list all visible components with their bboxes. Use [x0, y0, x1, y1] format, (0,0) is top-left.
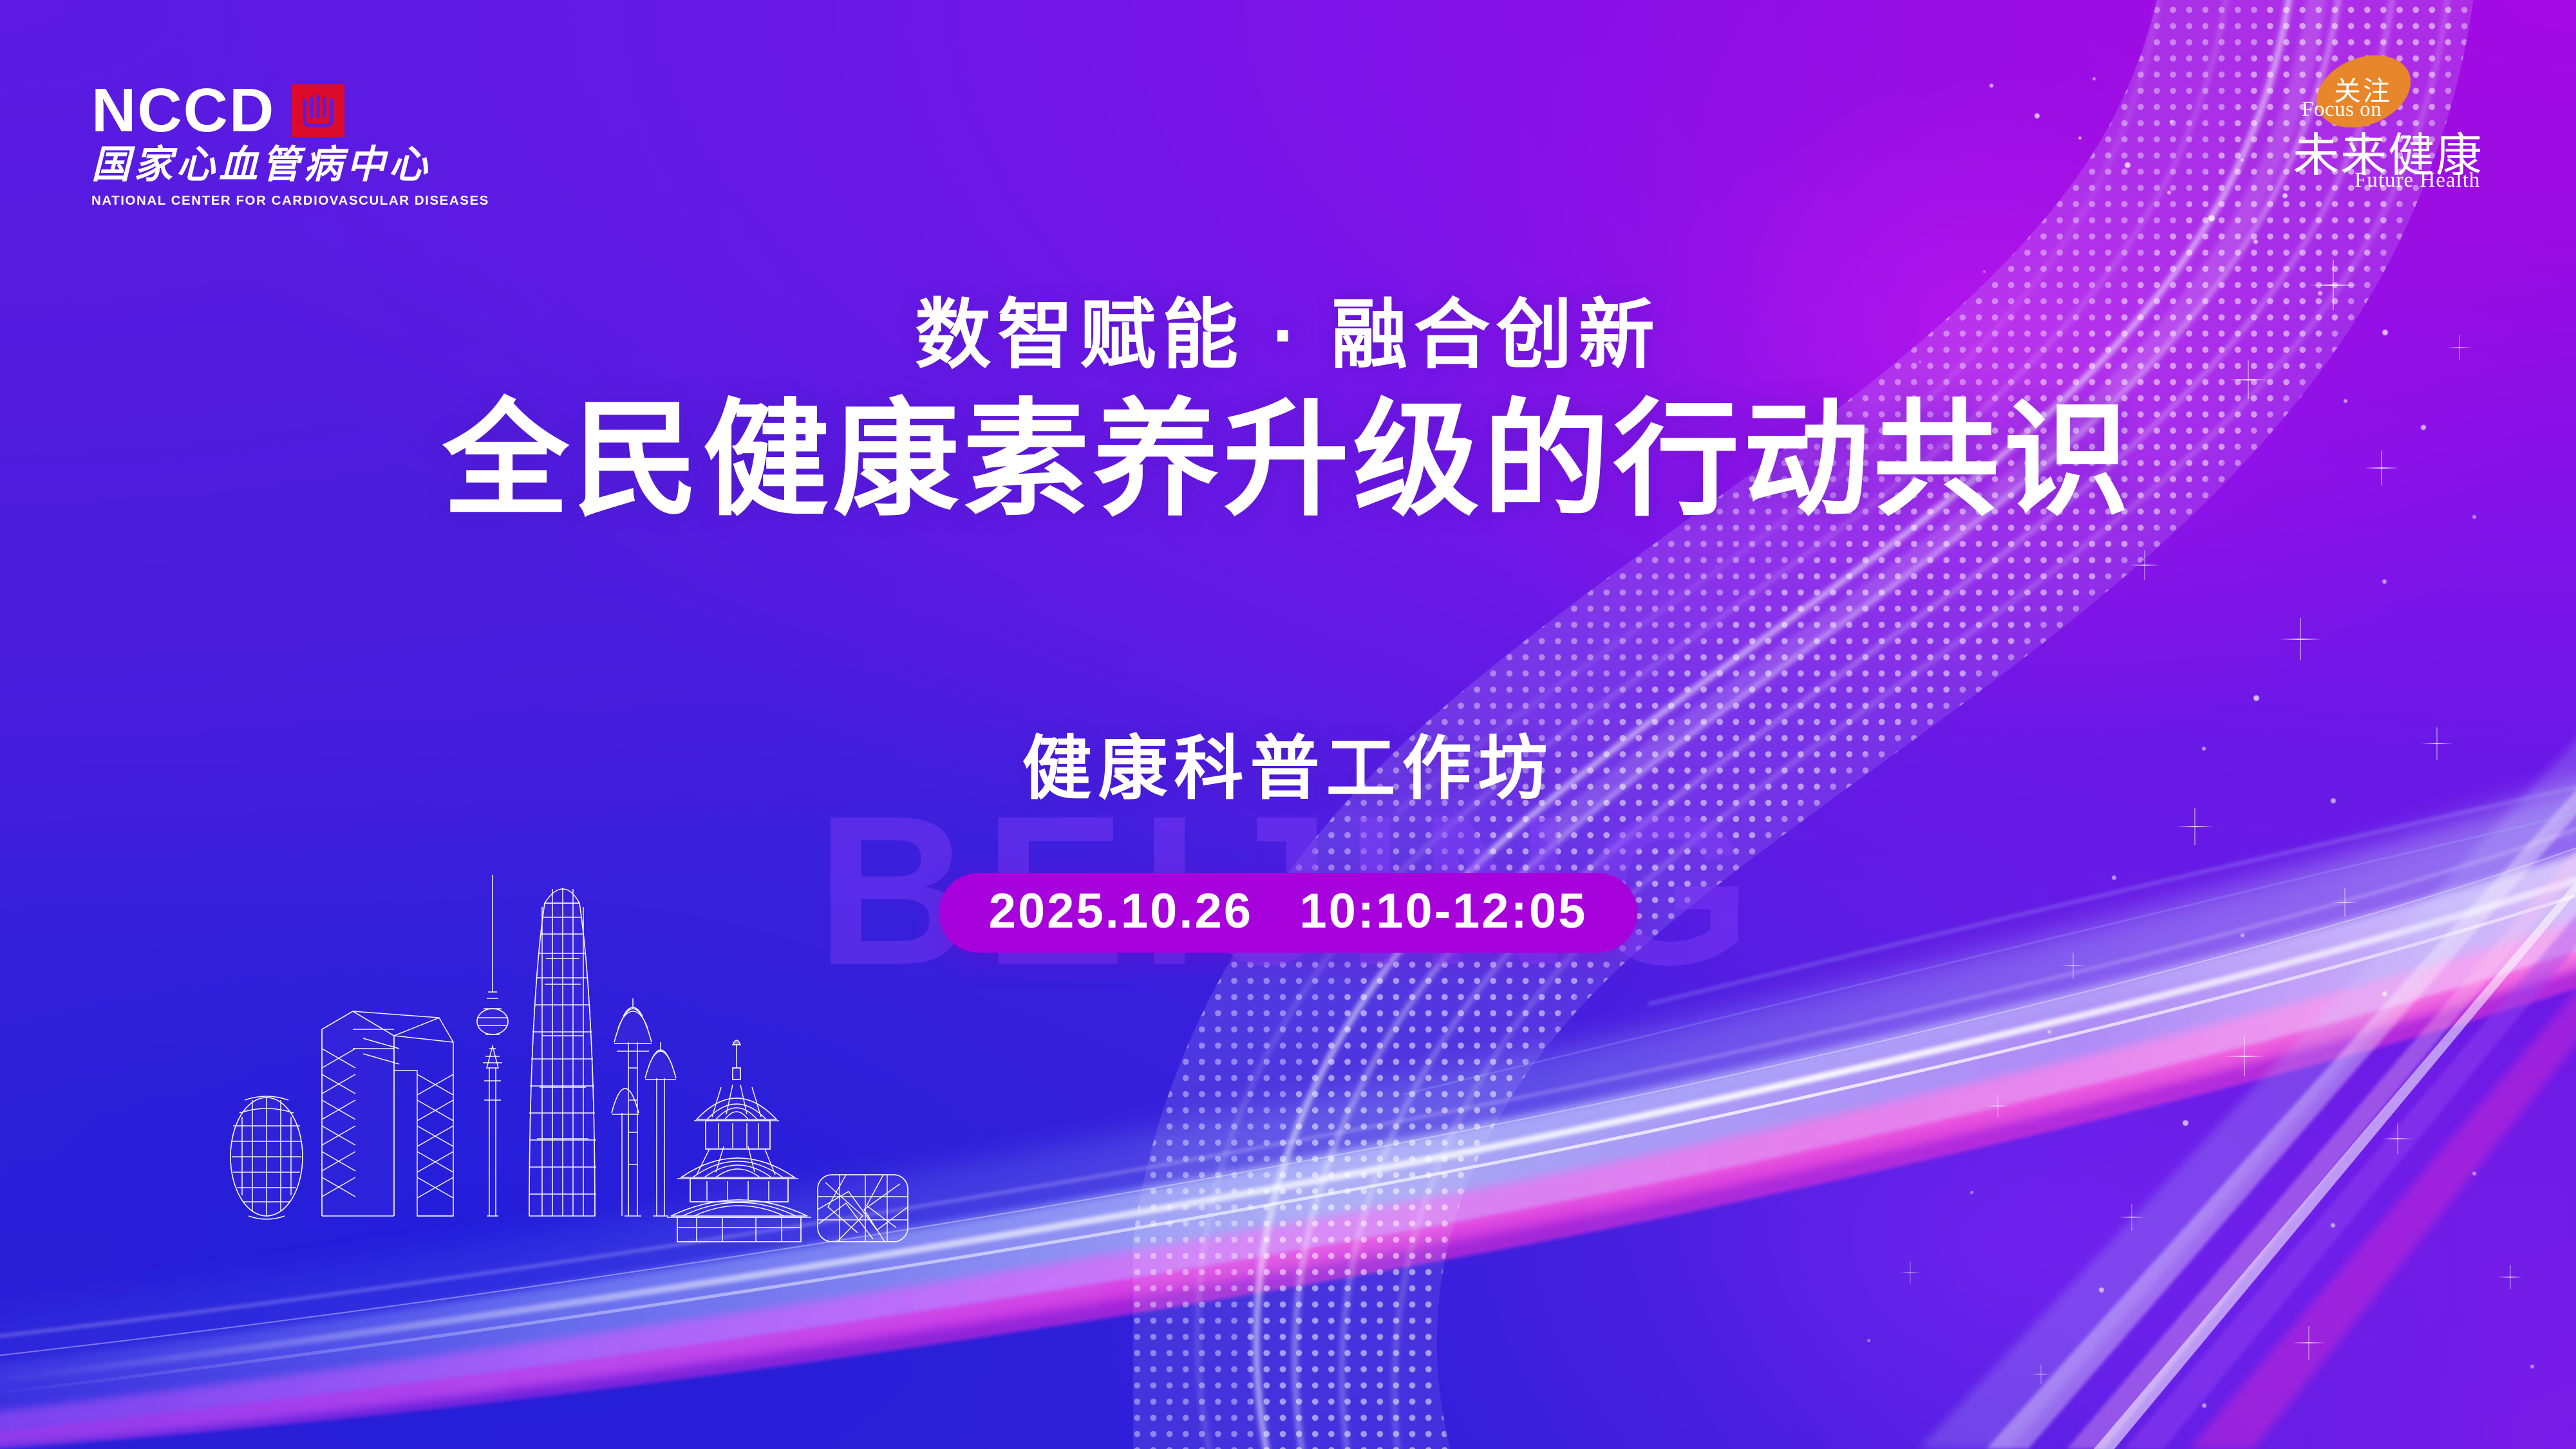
page-title: 全民健康素养升级的行动共识 — [0, 392, 2576, 528]
heart-seal-icon — [292, 84, 344, 137]
phoenix-center-icon — [230, 1096, 303, 1219]
headline-block: 数智赋能 · 融合创新 全民健康素养升级的行动共识 — [0, 291, 2576, 528]
event-banner: BEIJING — [0, 0, 2576, 1449]
headline-subtitle: 健康科普工作坊 — [0, 734, 2576, 803]
china-zun-tower-icon — [529, 888, 596, 1216]
future-health-en: Future Health — [2355, 169, 2480, 192]
lotus-lamp-posts-icon — [612, 998, 676, 1216]
nccd-logo: NCCD 国家心血管病中心 NATIONAL CENTER FOR CARDIO… — [91, 82, 426, 209]
nccd-english-name: NATIONAL CENTER FOR CARDIOVASCULAR DISEA… — [91, 193, 426, 209]
nccd-wordmark: NCCD — [91, 82, 275, 139]
water-cube-icon — [818, 1175, 908, 1242]
temple-of-heaven-icon — [667, 1040, 811, 1242]
date-time-text: 2025.10.26 10:10-12:05 — [989, 887, 1588, 936]
beijing-tv-tower-icon — [477, 875, 508, 1216]
headline-kicker: 数智赋能 · 融合创新 — [0, 291, 2576, 380]
date-time-badge: 2025.10.26 10:10-12:05 — [939, 873, 1638, 953]
future-health-logo: 关注 Focus on 未来健康 Future Health — [2279, 55, 2517, 197]
sparkle-swirl-ribbon — [1133, 0, 2576, 1449]
cctv-headquarters-icon — [322, 1011, 453, 1216]
nccd-chinese-name: 国家心血管病中心 — [91, 145, 426, 184]
beijing-skyline-illustration — [227, 765, 909, 1242]
